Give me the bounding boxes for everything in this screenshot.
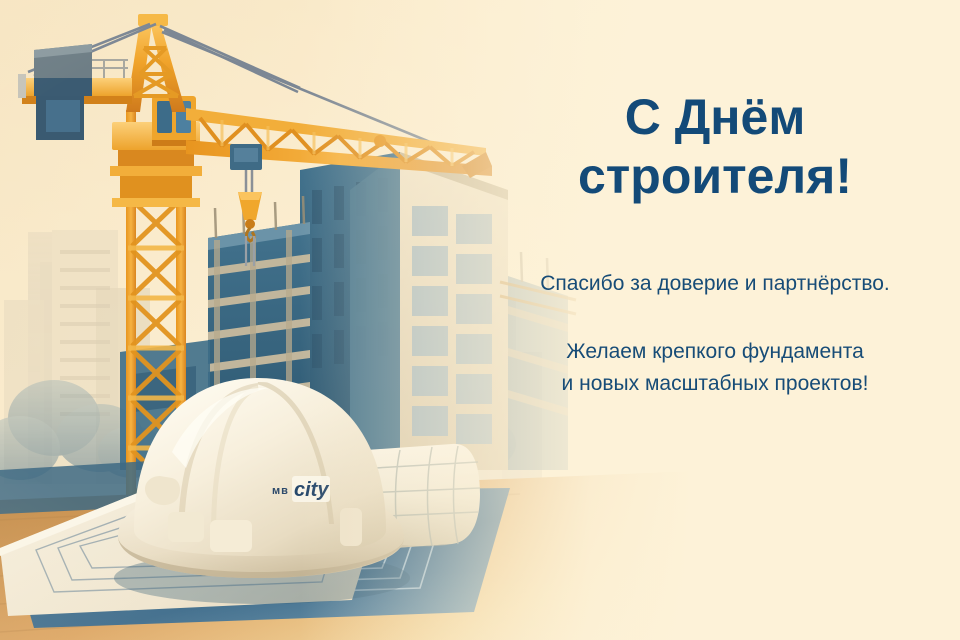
svg-text:city: city: [294, 479, 329, 501]
scene-illustration: мв city: [0, 0, 960, 640]
greeting-card: мв city С Днём строителя! Спасибо за дов…: [0, 0, 960, 640]
svg-text:мв: мв: [272, 485, 289, 497]
